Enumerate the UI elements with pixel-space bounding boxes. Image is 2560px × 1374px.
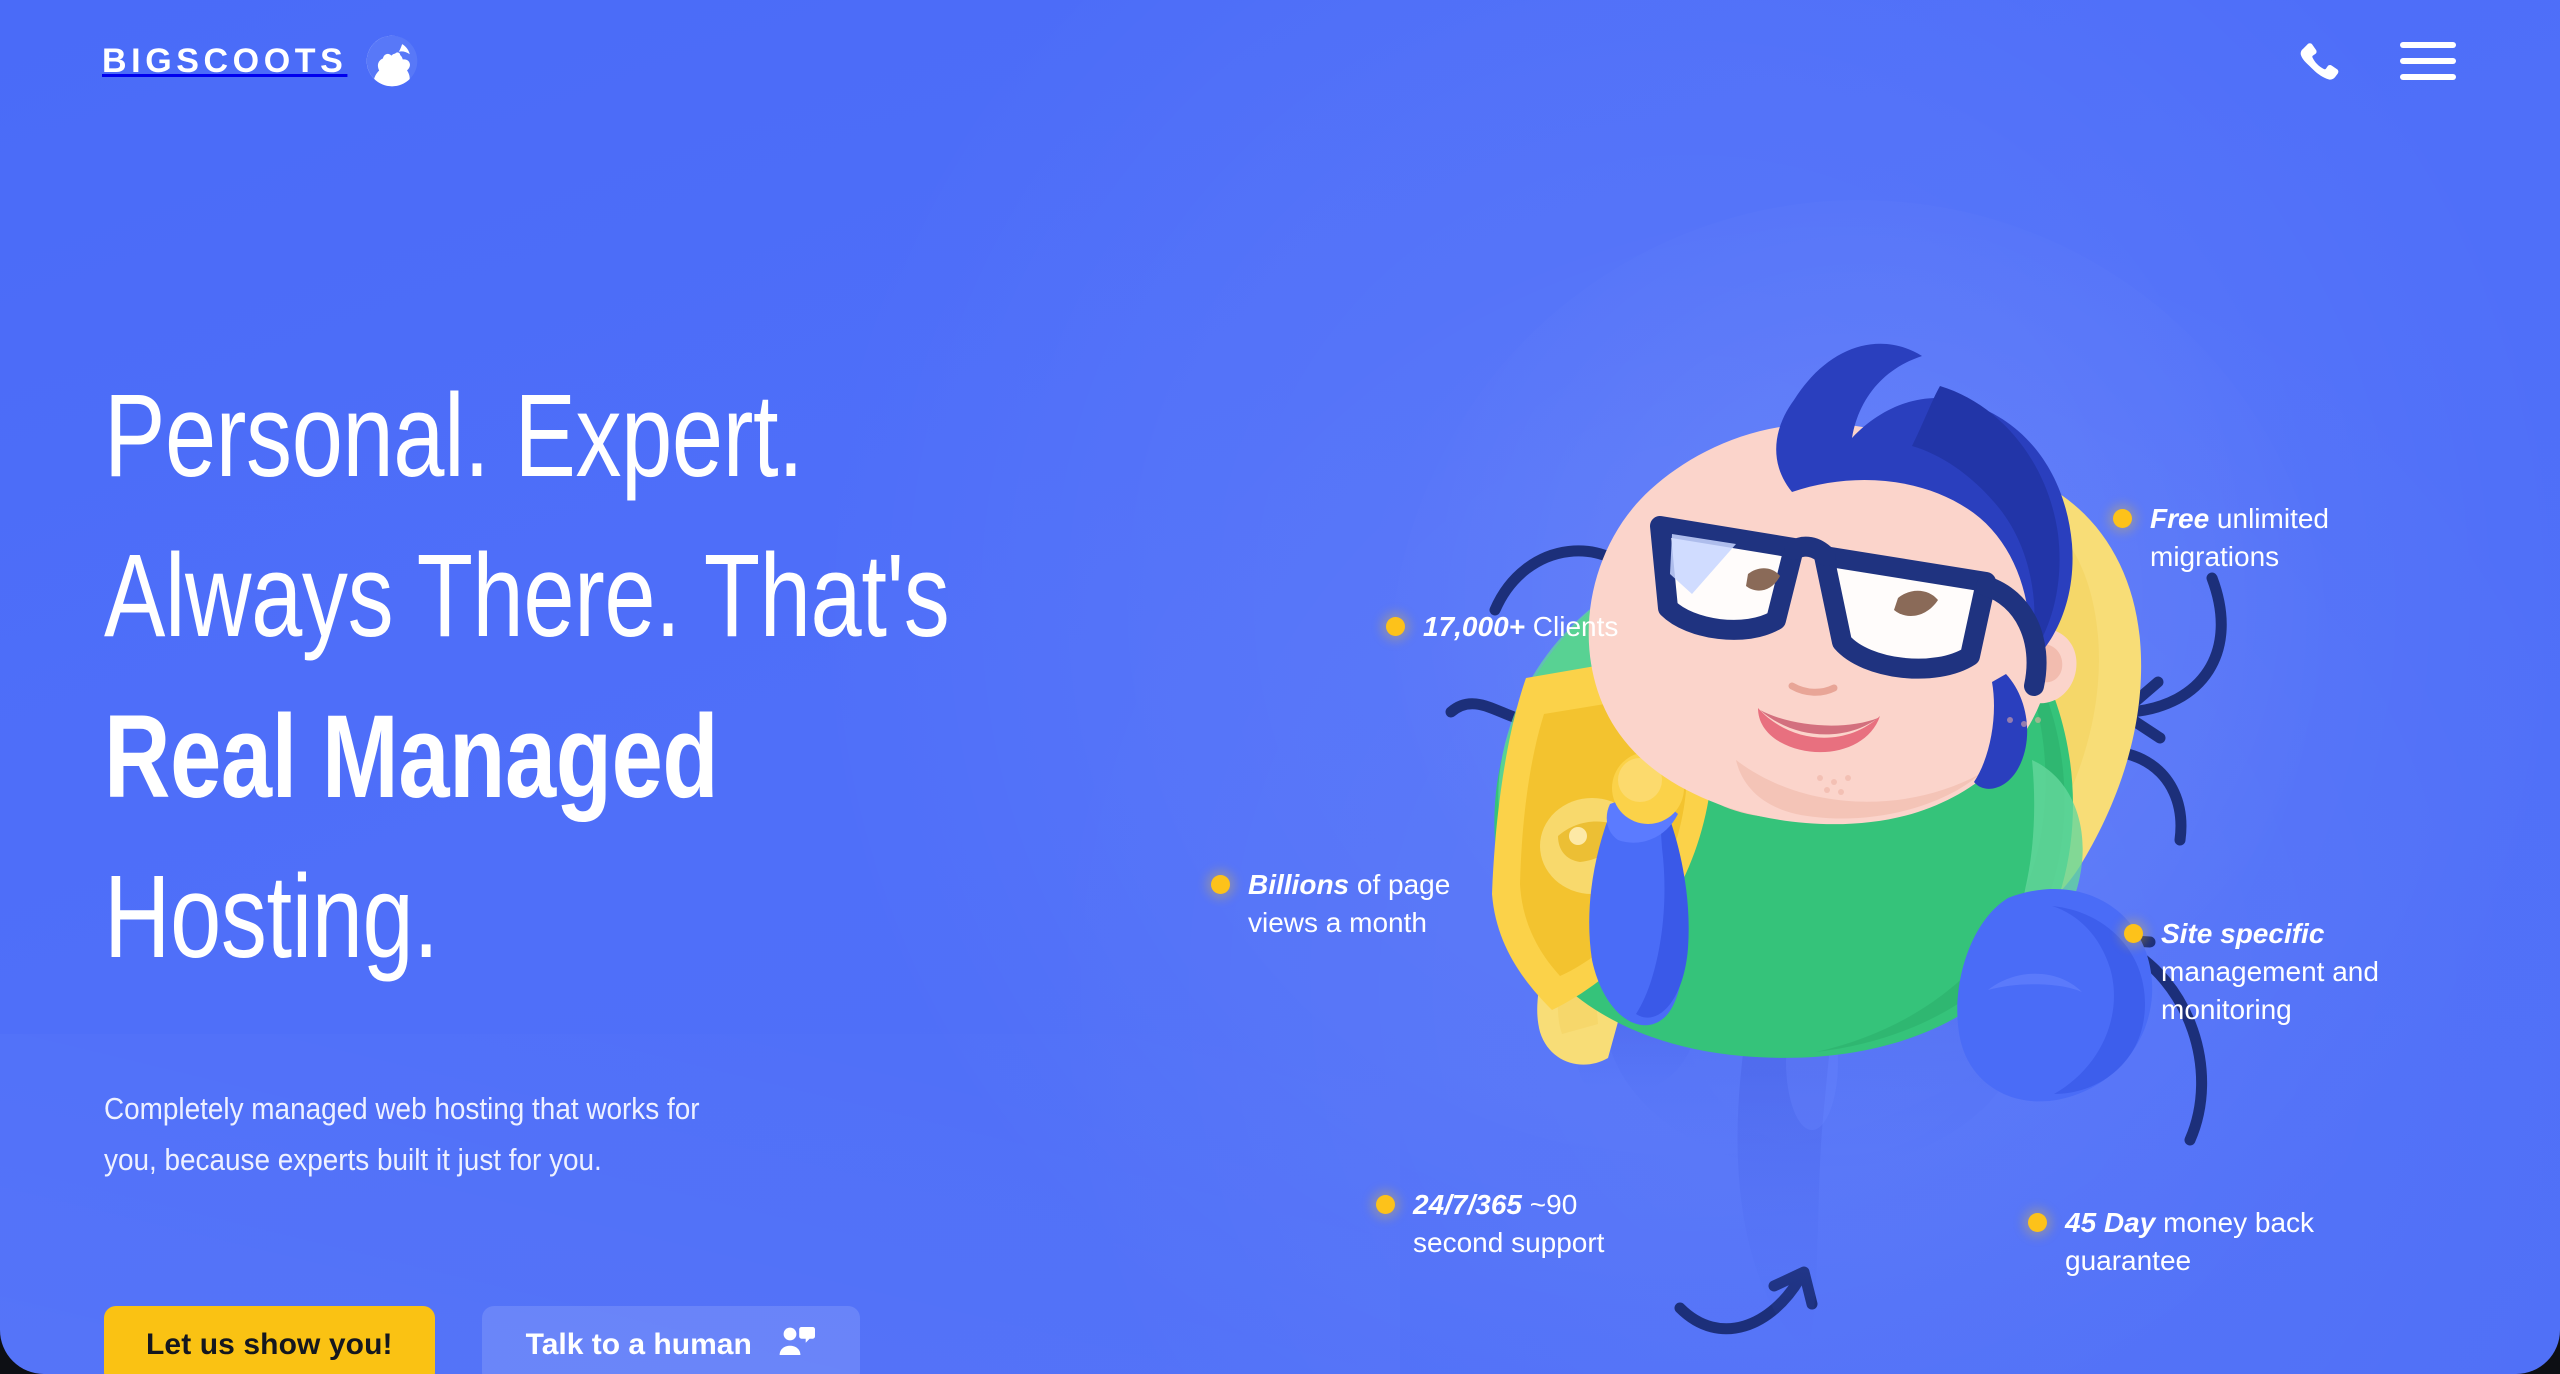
let-us-show-you-button[interactable]: Let us show you!: [104, 1306, 435, 1374]
cta-button-row: Let us show you! Talk to a human: [104, 1306, 1284, 1374]
brand-wordmark: BIGSCOOTS: [102, 44, 347, 78]
headline-line-3-bold: Real Managed: [104, 691, 718, 823]
callout-site-specific: Site specific management and monitoring: [2124, 915, 2431, 1029]
headline-line-4: Hosting.: [104, 851, 439, 983]
bullet-dot-icon: [1376, 1195, 1395, 1214]
callout-free-text: Free unlimited migrations: [2150, 500, 2360, 576]
bullet-dot-icon: [2028, 1213, 2047, 1232]
hero-section: BIGSCOOTS: [0, 0, 2560, 1374]
callout-support-emphasis: 24/7/365: [1413, 1189, 1522, 1220]
header-actions: [2290, 33, 2462, 89]
callout-billions-text: Billions of page views a month: [1248, 866, 1468, 942]
callout-support: 24/7/365 ~90 second support: [1376, 1186, 1633, 1262]
hamburger-bars: [2400, 42, 2456, 80]
person-chat-icon: [778, 1324, 816, 1366]
phone-icon[interactable]: [2290, 33, 2346, 89]
talk-to-a-human-button[interactable]: Talk to a human: [482, 1306, 860, 1374]
callout-clients-rest: Clients: [1525, 611, 1618, 642]
hero-subheadline: Completely managed web hosting that work…: [104, 1084, 734, 1186]
page-title: Personal. Expert. Always There. That's R…: [104, 356, 1274, 998]
headline-line-1: Personal. Expert.: [104, 370, 803, 502]
bullet-dot-icon: [2113, 509, 2132, 528]
brand-logo[interactable]: BIGSCOOTS: [102, 34, 419, 88]
bullet-dot-icon: [2124, 924, 2143, 943]
callout-clients: 17,000+ Clients: [1386, 608, 1618, 646]
headline-line-2: Always There. That's: [104, 530, 949, 662]
bullet-dot-icon: [1211, 875, 1230, 894]
callout-money-back: 45 Day money back guarantee: [2028, 1204, 2345, 1280]
talk-to-a-human-label: Talk to a human: [526, 1328, 752, 1362]
callout-clients-emphasis: 17,000+: [1423, 611, 1525, 642]
globe-mascot-icon: [365, 34, 419, 88]
callout-site-rest: management and monitoring: [2161, 956, 2379, 1025]
callout-support-text: 24/7/365 ~90 second support: [1413, 1186, 1633, 1262]
callout-page-views: Billions of page views a month: [1211, 866, 1468, 942]
callout-site-emphasis: Site specific: [2161, 918, 2324, 949]
callout-free-migrations: Free unlimited migrations: [2113, 500, 2360, 576]
callout-site-text: Site specific management and monitoring: [2161, 915, 2431, 1029]
callout-money-text: 45 Day money back guarantee: [2065, 1204, 2345, 1280]
callout-free-emphasis: Free: [2150, 503, 2209, 534]
hamburger-menu-icon[interactable]: [2394, 36, 2462, 86]
site-header: BIGSCOOTS: [0, 0, 2560, 122]
callout-clients-text: 17,000+ Clients: [1423, 608, 1618, 646]
bullet-dot-icon: [1386, 617, 1405, 636]
callout-money-emphasis: 45 Day: [2065, 1207, 2155, 1238]
hero-copy: Personal. Expert. Always There. That's R…: [104, 356, 1284, 1374]
callout-billions-emphasis: Billions: [1248, 869, 1349, 900]
